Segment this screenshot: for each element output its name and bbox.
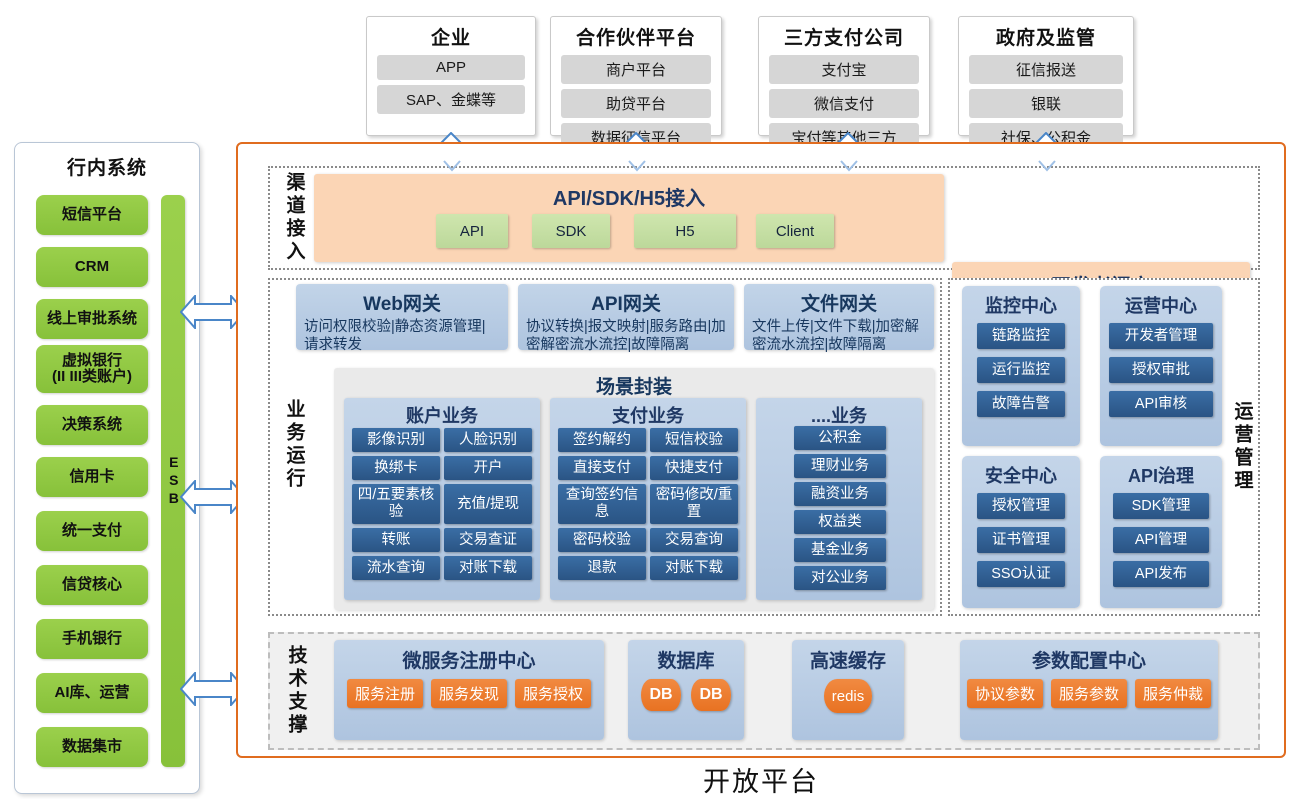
channel-access-vertical-label: 渠道接入 [278,172,310,264]
ops-chip-label: 授权审批 [1132,362,1190,379]
scene-chip[interactable]: 基金业务 [794,538,886,562]
ops-card-api-governance: API治理 SDK管理 API管理 API发布 [1100,456,1222,608]
scene-encapsulation-title: 场景封装 [334,368,934,399]
tech-chip[interactable]: 服务参数 [1051,679,1127,708]
ops-chip[interactable]: API管理 [1113,527,1209,553]
gateway-card-api: API网关 协议转换|报文映射|服务路由|加密解密流水流控|故障隔离 [518,284,734,350]
db-label: DB [649,686,672,704]
channel-chip-client[interactable]: Client [756,214,834,248]
scene-chip-label: 密码校验 [573,532,631,549]
tech-chip-label: 协议参数 [975,683,1035,704]
tech-support-vertical-label: 技术支撑 [280,638,312,744]
bank-item-label: AI库、运营 [54,685,129,702]
api-sdk-h5-access-card: API/SDK/H5接入 API SDK H5 Client [314,174,944,262]
scene-chip-label: 流水查询 [367,560,425,577]
scene-chip[interactable]: 查询签约信息 [558,484,646,524]
channel-chip-sdk[interactable]: SDK [532,214,610,248]
ops-card-security-center: 安全中心 授权管理 证书管理 SSO认证 [962,456,1080,608]
gateway-desc: 协议转换|报文映射|服务路由|加密解密流水流控|故障隔离 [526,318,726,354]
channel-chip-label: SDK [556,223,587,240]
ops-chip[interactable]: 证书管理 [977,527,1065,553]
scene-chip-label: 影像识别 [367,432,425,449]
external-actor-government-regulator: 政府及监管 征信报送 银联 社保、公积金 [958,16,1134,136]
ops-card-title: 监控中心 [985,292,1057,318]
ops-chip-label: 证书管理 [992,532,1050,549]
scene-chip-label: 基金业务 [811,542,869,559]
tech-card-title: 微服务注册中心 [402,646,535,673]
tech-card-cache: 高速缓存 redis [792,640,904,740]
redis-label: redis [832,688,865,705]
bank-system-crm[interactable]: CRM [36,247,148,287]
scene-group-title: ....业务 [756,398,922,428]
ops-chip[interactable]: API审核 [1109,391,1213,417]
tech-card-title: 参数配置中心 [1032,646,1146,673]
ops-chip[interactable]: 运行监控 [977,357,1065,383]
external-actor-third-party-payment: 三方支付公司 支付宝 微信支付 宝付等其他三方 [758,16,930,136]
tech-chip-label: 服务授权 [523,683,583,704]
bank-system-mobile-banking[interactable]: 手机银行 [36,619,148,659]
bank-item-label: 数据集市 [62,739,122,756]
external-actor-item: 银联 [969,89,1123,118]
scene-chip[interactable]: 短信校验 [650,428,738,452]
scene-chip-label: 交易查证 [459,532,517,549]
external-actor-item: 支付宝 [769,55,919,84]
api-sdk-h5-title: API/SDK/H5接入 [314,174,944,211]
gateway-desc: 文件上传|文件下载|加密解密流水流控|故障隔离 [752,318,926,354]
bank-panel-title: 行内系统 [15,143,199,180]
scene-encapsulation-section: 场景封装 账户业务 影像识别 换绑卡 四/五要素核验 转账 流水查询 人脸识别 … [334,368,934,610]
gateway-title: 文件网关 [752,289,926,316]
platform-caption: 开放平台 [236,760,1286,799]
scene-chip[interactable]: 理财业务 [794,454,886,478]
scene-chip-label: 公积金 [818,430,862,447]
external-actor-title: 企业 [431,23,471,50]
tech-chip[interactable]: 服务授权 [515,679,591,708]
ops-chip-label: API发布 [1135,566,1187,583]
tech-chip-label: 服务发现 [439,683,499,704]
gateway-title: API网关 [526,289,726,316]
ops-card-title: 安全中心 [985,462,1057,488]
scene-chip[interactable]: 流水查询 [352,556,440,580]
external-actor-item: 征信报送 [969,55,1123,84]
ops-chip-label: SSO认证 [991,566,1051,583]
down-arrow-icon [628,160,646,172]
bank-system-online-approval[interactable]: 线上审批系统 [36,299,148,339]
gateway-card-web: Web网关 访问权限校验|静态资源管理|请求转发 [296,284,508,350]
scene-chip-label: 换绑卡 [374,460,418,477]
tech-chip-label: 服务参数 [1059,683,1119,704]
tech-card-param-config-center: 参数配置中心 协议参数 服务参数 服务仲裁 [960,640,1218,740]
scene-chip-label: 四/五要素核验 [355,487,437,520]
gateway-card-file: 文件网关 文件上传|文件下载|加密解密流水流控|故障隔离 [744,284,934,350]
bank-system-credit-card[interactable]: 信用卡 [36,457,148,497]
scene-chip[interactable]: 退款 [558,556,646,580]
scene-chip[interactable]: 换绑卡 [352,456,440,480]
bank-system-decision[interactable]: 决策系统 [36,405,148,445]
tech-card-title: 高速缓存 [810,646,886,673]
scene-chip-label: 退款 [588,560,617,577]
external-actor-item: APP [377,55,525,80]
scene-group-other-business: ....业务 公积金 理财业务 融资业务 权益类 基金业务 对公业务 [756,398,922,600]
gateway-desc: 访问权限校验|静态资源管理|请求转发 [304,318,500,354]
ops-chip[interactable]: 故障告警 [977,391,1065,417]
ops-chip-label: 授权管理 [992,498,1050,515]
bank-item-label: 虚拟银行 (II III类账户) [52,353,132,386]
channel-chip-label: H5 [675,223,694,240]
external-actor-title: 三方支付公司 [784,23,904,50]
ops-chip-label: 运行监控 [992,362,1050,379]
channel-chip-label: Client [776,223,814,240]
external-actor-item: 微信支付 [769,89,919,118]
scene-chip-label: 查询签约信息 [561,487,643,520]
scene-group-account-business: 账户业务 影像识别 换绑卡 四/五要素核验 转账 流水查询 人脸识别 开户 充值… [344,398,540,600]
scene-chip[interactable]: 交易查询 [650,528,738,552]
scene-chip[interactable]: 快捷支付 [650,456,738,480]
scene-chip[interactable]: 转账 [352,528,440,552]
ops-management-vertical-label: 运营管理 [1226,392,1258,502]
ops-chip-label: 链路监控 [992,328,1050,345]
scene-chip-label: 密码修改/重置 [653,487,735,520]
external-actor-partner-platform: 合作伙伴平台 商户平台 助贷平台 数据征信平台 [550,16,722,136]
scene-chip[interactable]: 对账下载 [650,556,738,580]
scene-chip[interactable]: 公积金 [794,426,886,450]
scene-chip-label: 直接支付 [573,460,631,477]
external-actor-item: 助贷平台 [561,89,711,118]
scene-chip-label: 转账 [382,532,411,549]
scene-chip[interactable]: 对公业务 [794,566,886,590]
tech-chip[interactable]: 协议参数 [967,679,1043,708]
scene-chip[interactable]: 融资业务 [794,482,886,506]
ops-chip[interactable]: 授权审批 [1109,357,1213,383]
scene-chip-label: 融资业务 [811,486,869,503]
scene-chip[interactable]: 人脸识别 [444,428,532,452]
ops-card-monitor-center: 监控中心 链路监控 运行监控 故障告警 [962,286,1080,446]
tech-card-title: 数据库 [657,646,714,673]
external-actor-item: SAP、金蝶等 [377,85,525,114]
business-run-vertical-label: 业务运行 [278,390,310,500]
bank-item-label: 线上审批系统 [47,311,137,328]
gateway-title: Web网关 [304,289,500,316]
scene-chip-label: 理财业务 [811,458,869,475]
ops-chip-label: 故障告警 [992,396,1050,413]
tech-chip-label: 服务注册 [355,683,415,704]
ops-chip-label: API管理 [1135,532,1187,549]
scene-chip-label: 签约解约 [573,432,631,449]
bank-item-label: 短信平台 [62,207,122,224]
bank-system-virtual-bank[interactable]: 虚拟银行 (II III类账户) [36,345,148,393]
bank-internal-systems-panel: 行内系统 短信平台 CRM 线上审批系统 虚拟银行 (II III类账户) 决策… [14,142,200,794]
ops-chip[interactable]: SSO认证 [977,561,1065,587]
ops-card-title: API治理 [1128,462,1194,488]
bank-system-unified-payment[interactable]: 统一支付 [36,511,148,551]
external-actor-item: 商户平台 [561,55,711,84]
bank-system-ai-ops[interactable]: AI库、运营 [36,673,148,713]
ops-chip-label: 开发者管理 [1125,328,1198,345]
down-arrow-icon [1038,160,1056,172]
redis-cylinder-icon[interactable]: redis [824,679,872,713]
ops-chip-label: API审核 [1135,396,1187,413]
bank-item-label: 手机银行 [62,631,122,648]
ops-card-title: 运营中心 [1125,292,1197,318]
ops-chip-label: SDK管理 [1132,498,1191,515]
scene-chip-label: 快捷支付 [665,460,723,477]
bank-system-data-mart[interactable]: 数据集市 [36,727,148,767]
scene-group-title: 账户业务 [344,398,540,428]
scene-chip[interactable]: 直接支付 [558,456,646,480]
db-label: DB [699,686,722,704]
ops-chip[interactable]: 开发者管理 [1109,323,1213,349]
scene-chip-label: 开户 [474,460,503,477]
scene-chip[interactable]: 开户 [444,456,532,480]
bank-item-label: 信用卡 [69,469,114,486]
scene-chip[interactable]: 交易查证 [444,528,532,552]
scene-chip-label: 对账下载 [665,560,723,577]
scene-group-title: 支付业务 [550,398,746,428]
scene-chip-label: 权益类 [818,514,862,531]
database-cylinder-icon[interactable]: DB [691,679,731,711]
scene-chip-label: 对账下载 [459,560,517,577]
scene-chip[interactable]: 影像识别 [352,428,440,452]
scene-chip[interactable]: 签约解约 [558,428,646,452]
bank-item-label: 决策系统 [62,417,122,434]
external-actor-enterprise: 企业 APP SAP、金蝶等 [366,16,536,136]
tech-chip[interactable]: 服务仲裁 [1135,679,1211,708]
tech-card-microservice-registry: 微服务注册中心 服务注册 服务发现 服务授权 [334,640,604,740]
external-actor-title: 政府及监管 [996,23,1096,50]
scene-chip[interactable]: 对账下载 [444,556,532,580]
scene-chip[interactable]: 四/五要素核验 [352,484,440,524]
down-arrow-icon [443,160,461,172]
channel-chip-h5[interactable]: H5 [634,214,736,248]
down-arrow-icon [840,160,858,172]
tech-chip[interactable]: 服务发现 [431,679,507,708]
ops-chip[interactable]: 链路监控 [977,323,1065,349]
scene-chip-label: 对公业务 [811,570,869,587]
bank-system-credit-core[interactable]: 信贷核心 [36,565,148,605]
scene-chip-label: 人脸识别 [459,432,517,449]
channel-chip-label: API [460,223,484,240]
scene-chip-label: 短信校验 [665,432,723,449]
ops-chip[interactable]: 授权管理 [977,493,1065,519]
tech-chip[interactable]: 服务注册 [347,679,423,708]
scene-chip-label: 充值/提现 [457,496,519,513]
scene-chip[interactable]: 密码校验 [558,528,646,552]
scene-chip[interactable]: 权益类 [794,510,886,534]
channel-chip-api[interactable]: API [436,214,508,248]
scene-chip[interactable]: 充值/提现 [444,484,532,524]
bank-item-label: 信贷核心 [62,577,122,594]
tech-chip-label: 服务仲裁 [1143,683,1203,704]
tech-card-database: 数据库 DB DB [628,640,744,740]
ops-card-operation-center: 运营中心 开发者管理 授权审批 API审核 [1100,286,1222,446]
ops-chip[interactable]: SDK管理 [1113,493,1209,519]
scene-chip-label: 交易查询 [665,532,723,549]
ops-chip[interactable]: API发布 [1113,561,1209,587]
external-actor-title: 合作伙伴平台 [576,23,696,50]
database-cylinder-icon[interactable]: DB [641,679,681,711]
bank-item-label: CRM [75,259,109,276]
scene-chip[interactable]: 密码修改/重置 [650,484,738,524]
bank-item-label: 统一支付 [62,523,122,540]
bank-system-sms-platform[interactable]: 短信平台 [36,195,148,235]
scene-group-payment-business: 支付业务 签约解约 直接支付 查询签约信息 密码校验 退款 短信校验 快捷支付 … [550,398,746,600]
